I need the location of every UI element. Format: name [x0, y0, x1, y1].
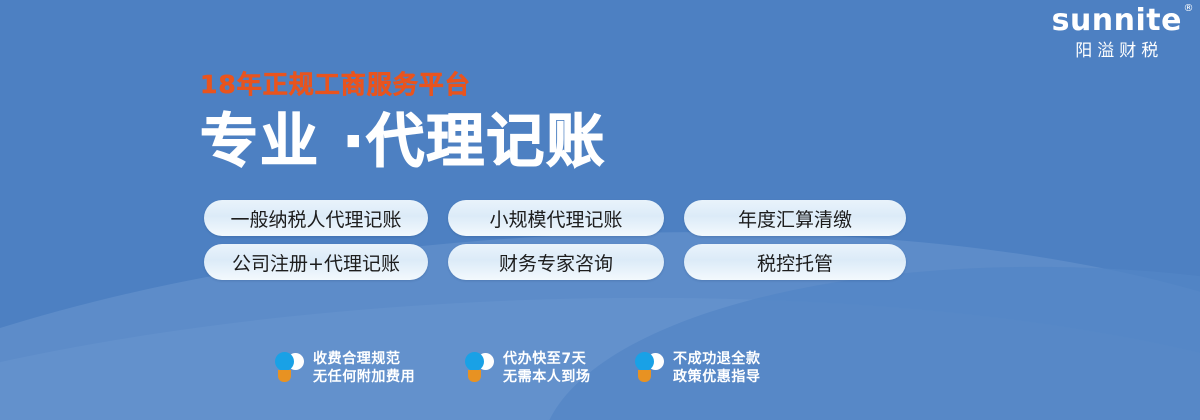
feature-line-1: 不成功退全款: [673, 350, 761, 368]
service-pill-grid: 一般纳税人代理记账 小规模代理记账 年度汇算清缴 公司注册+代理记账 财务专家咨…: [204, 200, 906, 288]
person-avatar-icon: [274, 350, 304, 386]
service-pill-small-scale-bookkeeping[interactable]: 小规模代理记账: [448, 200, 664, 236]
page-title: 专业 ·代理记账: [200, 110, 606, 173]
feature-item-speed: 代办快至7天 无需本人到场: [464, 350, 634, 386]
brand-logo[interactable]: sunnite® 阳溢财税: [1052, 6, 1182, 60]
feature-item-pricing: 收费合理规范 无任何附加费用: [274, 350, 464, 386]
feature-text-speed: 代办快至7天 无需本人到场: [503, 350, 591, 386]
service-pill-row-2: 公司注册+代理记账 财务专家咨询 税控托管: [204, 244, 906, 280]
person-avatar-body-icon: [468, 370, 481, 382]
feature-line-2: 无需本人到场: [503, 368, 591, 386]
feature-line-2: 政策优惠指导: [673, 368, 761, 386]
person-avatar-body-icon: [638, 370, 651, 382]
background-wave-lower: [0, 265, 1200, 420]
brand-logo-chinese-name: 阳溢财税: [1052, 43, 1182, 60]
brand-logo-mark: sunnite®: [1052, 6, 1182, 36]
service-pill-finance-expert-consulting[interactable]: 财务专家咨询: [448, 244, 664, 280]
feature-line-1: 代办快至7天: [503, 350, 591, 368]
feature-text-pricing: 收费合理规范 无任何附加费用: [313, 350, 415, 386]
headline-eyebrow: 18年正规工商服务平台: [200, 72, 606, 97]
person-avatar-head-icon: [465, 352, 484, 371]
feature-line-2: 无任何附加费用: [313, 368, 415, 386]
person-avatar-body-icon: [278, 370, 291, 382]
feature-text-guarantee: 不成功退全款 政策优惠指导: [673, 350, 761, 386]
person-avatar-head-icon: [635, 352, 654, 371]
feature-strip: 收费合理规范 无任何附加费用 代办快至7天 无需本人到场 不成功退全款: [274, 350, 804, 386]
feature-line-1: 收费合理规范: [313, 350, 415, 368]
service-pill-tax-control-hosting[interactable]: 税控托管: [684, 244, 906, 280]
registered-trademark-icon: ®: [1184, 4, 1195, 14]
service-pill-annual-tax-settlement[interactable]: 年度汇算清缴: [684, 200, 906, 236]
service-pill-row-1: 一般纳税人代理记账 小规模代理记账 年度汇算清缴: [204, 200, 906, 236]
brand-logo-wordmark: sunnite: [1052, 3, 1182, 38]
person-avatar-head-icon: [275, 352, 294, 371]
service-pill-company-registration-bookkeeping[interactable]: 公司注册+代理记账: [204, 244, 428, 280]
headline-block: 18年正规工商服务平台 专业 ·代理记账: [200, 72, 606, 173]
person-avatar-icon: [464, 350, 494, 386]
feature-item-guarantee: 不成功退全款 政策优惠指导: [634, 350, 804, 386]
promo-banner: sunnite® 阳溢财税 18年正规工商服务平台 专业 ·代理记账 一般纳税人…: [0, 0, 1200, 420]
service-pill-general-taxpayer-bookkeeping[interactable]: 一般纳税人代理记账: [204, 200, 428, 236]
person-avatar-icon: [634, 350, 664, 386]
